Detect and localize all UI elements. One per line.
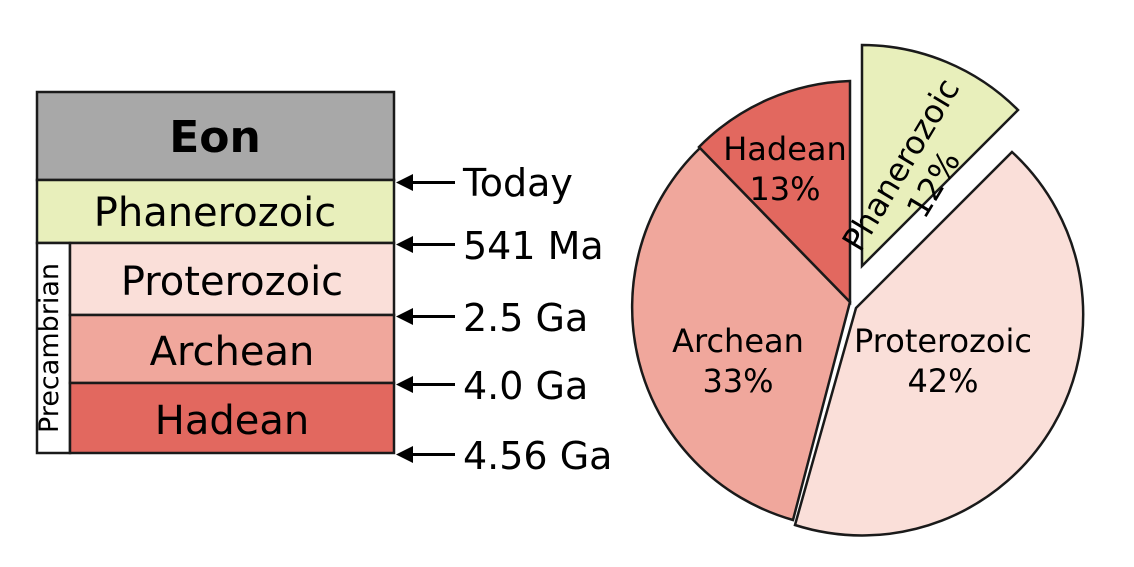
boundary-label-541ma: 541 Ma: [463, 224, 604, 268]
pie-label-hadean-value: 13%: [749, 170, 820, 208]
boundary-label-today: Today: [462, 161, 573, 205]
boundary-label-456ga: 4.56 Ga: [463, 434, 612, 478]
pie-label-proterozoic-value: 42%: [907, 362, 978, 400]
boundary-label-25ga: 2.5 Ga: [463, 296, 588, 340]
pie-label-archean-value: 33%: [702, 362, 773, 400]
boundary-label-40ga: 4.0 Ga: [463, 364, 588, 408]
table-label-proterozoic: Proterozoic: [121, 259, 343, 305]
table-group-label-precambrian: Precambrian: [34, 263, 65, 433]
pie-label-archean-name: Archean: [672, 322, 804, 360]
eon-table: Eon Phanerozoic Precambrian Proterozoic …: [34, 92, 394, 453]
pie-label-hadean-name: Hadean: [723, 130, 847, 168]
table-label-phanerozoic: Phanerozoic: [94, 190, 337, 236]
table-label-archean: Archean: [150, 329, 315, 375]
table-header-label-eon: Eon: [169, 112, 261, 163]
pie-label-proterozoic-name: Proterozoic: [854, 322, 1032, 360]
table-label-hadean: Hadean: [155, 398, 309, 444]
geologic-time-figure: Eon Phanerozoic Precambrian Proterozoic …: [0, 0, 1134, 567]
